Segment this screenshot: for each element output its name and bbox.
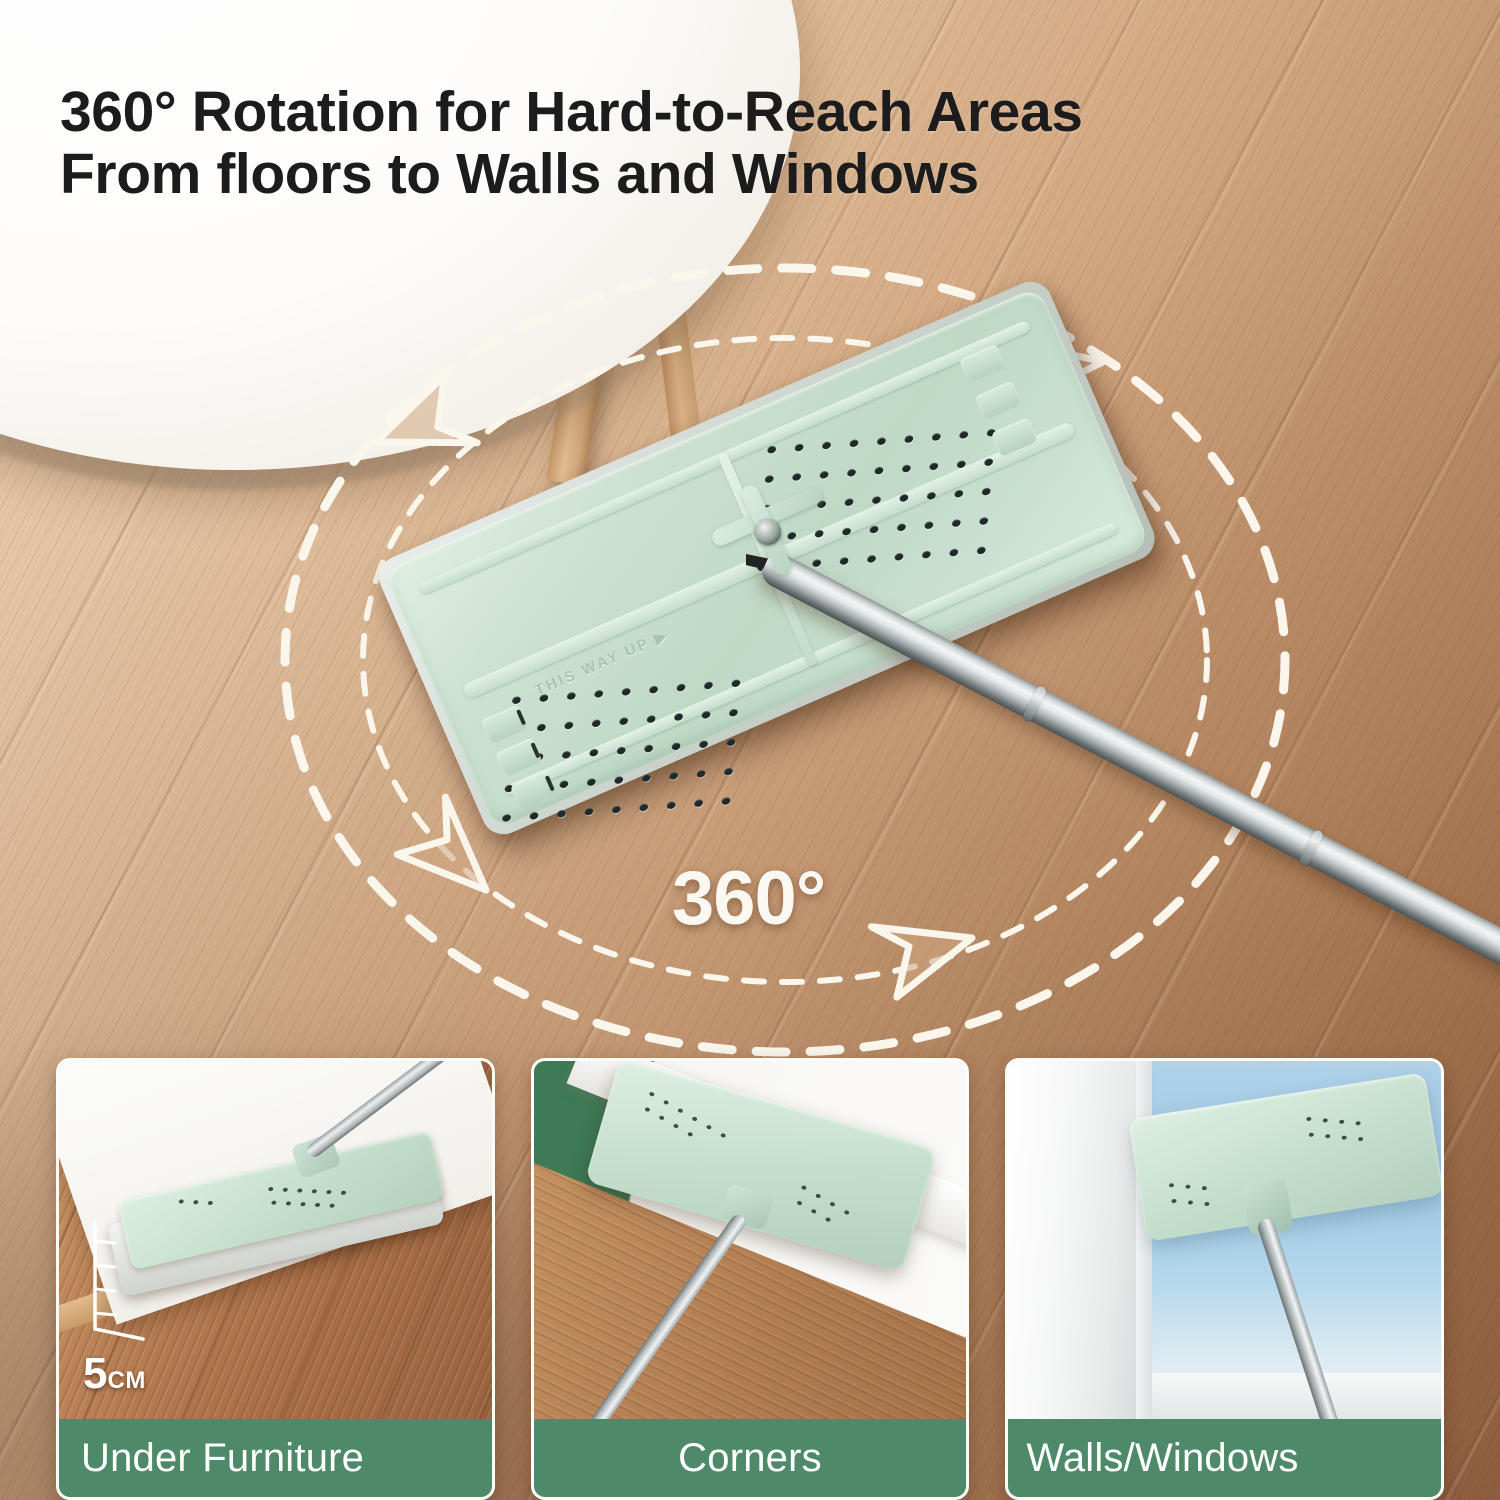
c1-measure-value: 5 xyxy=(83,1349,107,1398)
headline-line-1: 360° Rotation for Hard-to-Reach Areas xyxy=(60,82,1460,144)
rotation-badge-360: 360° xyxy=(672,855,825,942)
c1-measure-label: 5CM xyxy=(83,1349,146,1399)
c3-curtain xyxy=(1008,1061,1136,1419)
perforation-hole xyxy=(839,556,850,566)
pad-clip-4 xyxy=(481,705,528,745)
use-case-thumbnail-row: 5CM Under Furniture xyxy=(0,1058,1500,1500)
perforation-hole xyxy=(593,689,604,699)
caption-label-1: Under Furniture xyxy=(59,1436,364,1481)
pad-clip-5 xyxy=(495,738,542,778)
headline-block: 360° Rotation for Hard-to-Reach Areas Fr… xyxy=(60,82,1460,205)
perforation-hole xyxy=(666,800,677,810)
perforation-hole xyxy=(923,520,934,530)
rotation-arrow-bottom-right xyxy=(847,886,972,1012)
perforation-hole xyxy=(723,767,734,777)
perforation-hole xyxy=(901,463,912,473)
scene-under-furniture: 5CM xyxy=(59,1061,492,1419)
perforation-hole xyxy=(893,552,904,562)
caption-under-furniture: Under Furniture xyxy=(59,1419,492,1497)
thumbnail-card-under-furniture[interactable]: 5CM Under Furniture xyxy=(56,1058,495,1500)
product-feature-graphic: 360° Rotation for Hard-to-Reach Areas Fr… xyxy=(0,0,1500,1500)
perforation-hole xyxy=(821,440,832,450)
perforation-hole xyxy=(953,489,964,499)
perforation-hole xyxy=(591,718,602,728)
perforation-hole xyxy=(720,796,731,806)
perforation-hole xyxy=(868,524,879,534)
hero-mop: THIS WAY UP ▶ xyxy=(392,278,1152,848)
perforation-hole xyxy=(981,487,992,497)
perforation-hole xyxy=(563,720,574,730)
perforation-hole xyxy=(976,545,987,555)
caption-walls-windows: Walls/Windows xyxy=(1008,1419,1441,1497)
perforation-hole xyxy=(873,466,884,476)
perforation-hole xyxy=(951,518,962,528)
caption-corners: Corners xyxy=(534,1419,967,1497)
perforation-hole xyxy=(903,434,914,444)
perforation-hole xyxy=(928,461,939,471)
pole-joint-ring-2 xyxy=(1298,829,1324,867)
perforation-hole xyxy=(766,445,777,455)
perforation-hole xyxy=(728,708,739,718)
headline-line-2: From floors to Walls and Windows xyxy=(60,144,1460,206)
perforation-hole xyxy=(866,554,877,564)
perforation-hole xyxy=(566,691,577,701)
perforation-hole xyxy=(794,443,805,453)
perforation-hole xyxy=(978,516,989,526)
perforation-hole xyxy=(501,813,512,823)
caption-label-3: Walls/Windows xyxy=(1008,1436,1441,1481)
perforation-hole xyxy=(511,695,522,705)
perforation-hole xyxy=(848,438,859,448)
swivel-joint xyxy=(708,488,828,580)
thumbnail-card-walls-windows[interactable]: Walls/Windows xyxy=(1005,1058,1444,1500)
perforation-hole xyxy=(621,687,632,697)
scene-walls-windows xyxy=(1008,1061,1441,1419)
joint-pivot-pin xyxy=(755,519,781,545)
perforation-hole xyxy=(896,522,907,532)
thumbnail-card-corners[interactable]: Corners xyxy=(531,1058,970,1500)
perforation-hole xyxy=(948,548,959,558)
perforation-hole xyxy=(675,683,686,693)
perforation-hole xyxy=(791,472,802,482)
perforation-hole xyxy=(638,802,649,812)
caption-label-2: Corners xyxy=(534,1436,967,1481)
perforation-hole xyxy=(536,723,547,733)
perforation-hole xyxy=(693,798,704,808)
scene-corners xyxy=(534,1061,967,1419)
perforation-hole xyxy=(846,468,857,478)
perforation-hole xyxy=(558,779,569,789)
pole-joint-ring-1 xyxy=(1021,685,1047,723)
c1-measure-unit: CM xyxy=(107,1367,145,1394)
perforation-hole xyxy=(931,432,942,442)
joint-notch xyxy=(746,554,768,569)
perforation-hole xyxy=(819,470,830,480)
perforation-hole xyxy=(844,497,855,507)
perforation-hole xyxy=(703,680,714,690)
perforation-hole xyxy=(648,685,659,695)
perforation-hole xyxy=(876,436,887,446)
c1-measure-ruler xyxy=(85,1221,149,1341)
perforation-hole xyxy=(643,743,654,753)
perforation-hole xyxy=(586,777,597,787)
perforation-hole xyxy=(958,430,969,440)
pad-clip-2 xyxy=(975,381,1022,421)
perforation-hole xyxy=(764,474,775,484)
perforation-hole xyxy=(618,716,629,726)
c3-window-sill xyxy=(1136,1373,1441,1419)
perforation-hole xyxy=(921,550,932,560)
